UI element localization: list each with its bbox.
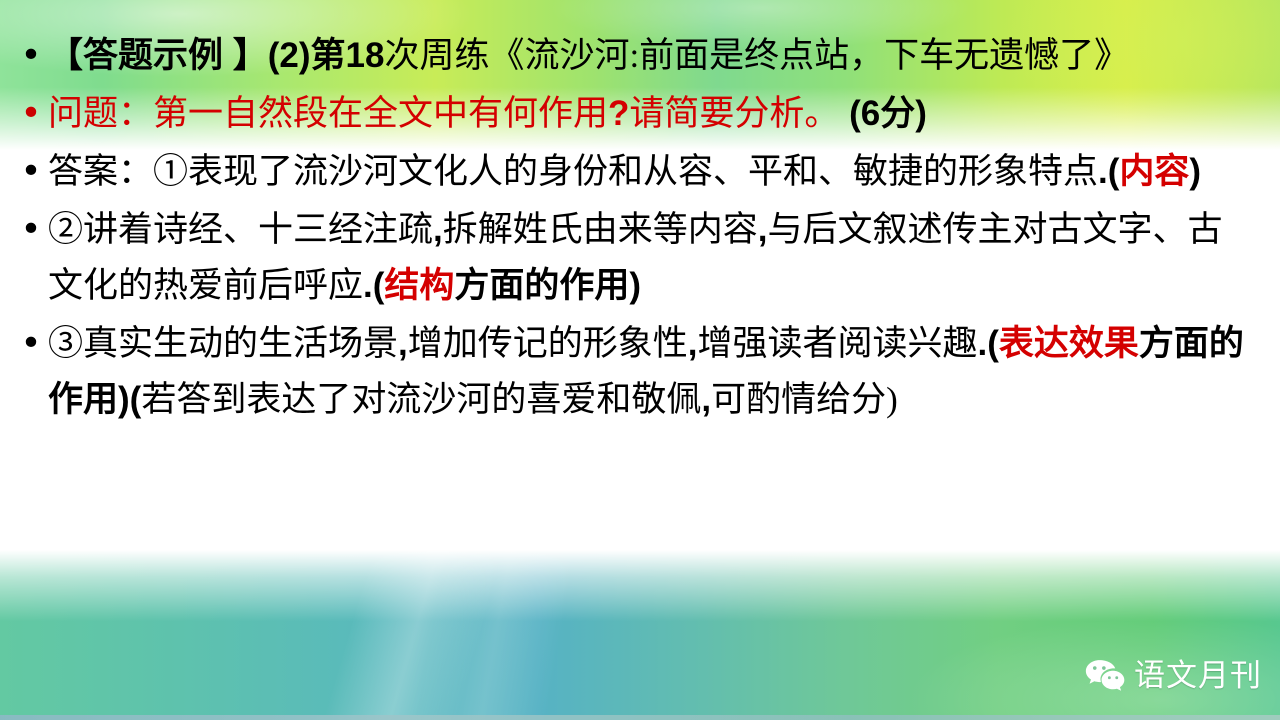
- run-a3-1: ,: [398, 324, 408, 363]
- run-a1-tag-neirong: 内容: [1119, 152, 1189, 191]
- run-a2-2: 拆解姓氏由来等内容: [443, 210, 758, 249]
- run-a2-3: ,: [758, 210, 768, 249]
- run-a3-5: .(: [978, 324, 999, 363]
- run-title-0: 【答题示例 】(2)第18: [48, 36, 384, 75]
- run-question-score: (6分): [839, 94, 927, 133]
- run-a2-5: .(: [363, 266, 384, 305]
- run-question-1: ?: [608, 94, 629, 133]
- run-a2-tag-jiegou: 结构: [384, 266, 454, 305]
- bottom-gradient-band: [0, 550, 1280, 720]
- run-question-2: 请简要分析。: [629, 94, 839, 133]
- run-a3-8: 若答到表达了对流沙河的喜爱和敬佩: [141, 380, 701, 419]
- bullet-marker-answer-3: •: [14, 316, 48, 372]
- slide-canvas: • 【答题示例 】(2)第18次周练《流沙河:前面是终点站，下车无遗憾了》 • …: [0, 0, 1280, 720]
- bullet-item-answer-3: • ③真实生动的生活场景,增加传记的形象性,增强读者阅读兴趣.(表达效果方面的作…: [14, 316, 1256, 428]
- bullet-item-answer-2: • ②讲着诗经、十三经注疏,拆解姓氏由来等内容,与后文叙述传主对古文字、古文化的…: [14, 202, 1256, 314]
- bullet-text-answer-1: 答案：①表现了流沙河文化人的身份和从容、平和、敏捷的形象特点.(内容): [48, 144, 1256, 200]
- run-a2-0: ②讲着诗经、十三经注疏: [48, 210, 433, 249]
- run-a3-tag-biaodaxiaoguo: 表达效果: [999, 324, 1139, 363]
- watermark-label: 语文月刊: [1134, 658, 1262, 694]
- watermark: 语文月刊: [1084, 658, 1262, 694]
- bullet-marker-question: •: [14, 86, 48, 142]
- run-a3-0: ③真实生动的生活场景: [48, 324, 398, 363]
- run-a3-9: ,: [701, 380, 711, 419]
- bottom-edge-strip: [0, 715, 1280, 720]
- run-a1-0: 答案：①表现了流沙河文化人的身份和从容、平和、敏捷的形象特点: [48, 152, 1098, 191]
- bullet-text-answer-2: ②讲着诗经、十三经注疏,拆解姓氏由来等内容,与后文叙述传主对古文字、古文化的热爱…: [48, 202, 1256, 314]
- run-a1-1: .(: [1098, 152, 1119, 191]
- run-a2-7: 方面的作用): [454, 266, 641, 305]
- run-title-1: 次周练《流沙河:前面是终点站，下车无遗憾了》: [384, 36, 1129, 75]
- run-a2-1: ,: [433, 210, 443, 249]
- run-a3-4: 增强读者阅读兴趣: [698, 324, 978, 363]
- bullet-text-title: 【答题示例 】(2)第18次周练《流沙河:前面是终点站，下车无遗憾了》: [48, 28, 1256, 84]
- bullet-item-answer-1: • 答案：①表现了流沙河文化人的身份和从容、平和、敏捷的形象特点.(内容): [14, 144, 1256, 200]
- run-a3-10: 可酌情给分): [711, 380, 898, 419]
- wechat-icon: [1084, 658, 1126, 694]
- bullet-marker-answer-1: •: [14, 144, 48, 200]
- bullet-text-answer-3: ③真实生动的生活场景,增加传记的形象性,增强读者阅读兴趣.(表达效果方面的作用)…: [48, 316, 1256, 428]
- run-a3-3: ,: [688, 324, 698, 363]
- slide-body: • 【答题示例 】(2)第18次周练《流沙河:前面是终点站，下车无遗憾了》 • …: [0, 0, 1280, 430]
- run-a3-2: 增加传记的形象性: [408, 324, 688, 363]
- run-question-0: 问题：第一自然段在全文中有何作用: [48, 94, 608, 133]
- bullet-marker-answer-2: •: [14, 202, 48, 258]
- bullet-item-title: • 【答题示例 】(2)第18次周练《流沙河:前面是终点站，下车无遗憾了》: [14, 28, 1256, 84]
- bullet-text-question: 问题：第一自然段在全文中有何作用?请简要分析。 (6分): [48, 86, 1256, 142]
- run-a1-3: ): [1189, 152, 1201, 191]
- bullet-marker: •: [14, 28, 48, 84]
- bullet-item-question: • 问题：第一自然段在全文中有何作用?请简要分析。 (6分): [14, 86, 1256, 142]
